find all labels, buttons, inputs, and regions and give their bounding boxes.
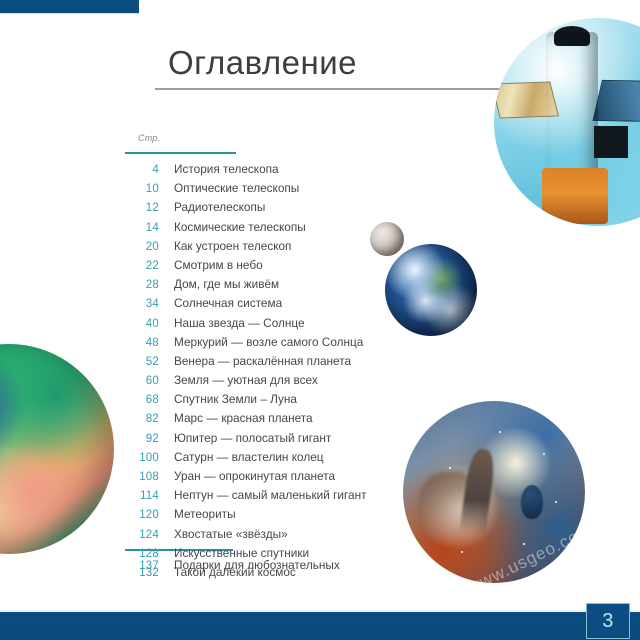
toc-entry-page: 52 (125, 356, 159, 368)
toc-entry-page: 4 (125, 164, 159, 176)
toc-entry-title: Венера — раскалённая планета (174, 354, 351, 368)
toc-entry-page: 120 (125, 509, 159, 521)
toc-entry-title: Нептун — самый маленький гигант (174, 488, 367, 502)
earth-image (385, 244, 477, 336)
toc-entry[interactable]: 40Наша звезда — Солнце (125, 316, 415, 335)
toc-entry-title: Как устроен телескоп (174, 239, 291, 253)
toc-entry-title: Оптические телескопы (174, 181, 299, 195)
toc-entry-title: Земля — уютная для всех (174, 373, 318, 387)
star-dot (449, 467, 451, 469)
toc-entry-title: Смотрим в небо (174, 258, 263, 272)
toc-entry-title: Сатурн — властелин колец (174, 450, 324, 464)
toc-entry-page: 108 (125, 471, 159, 483)
toc-entry-title: История телескопа (174, 162, 279, 176)
star-dot (461, 551, 463, 553)
toc-entry-page: 28 (125, 279, 159, 291)
nebula-image: www.usgeo.com (403, 401, 585, 583)
toc-entry[interactable]: 114Нептун — самый маленький гигант (125, 488, 415, 507)
moon-image (370, 222, 404, 256)
toc-entry[interactable]: 82Марс — красная планета (125, 411, 415, 430)
toc-entry[interactable]: 10Оптические телескопы (125, 181, 415, 200)
toc-entry-page: 68 (125, 394, 159, 406)
nebula-pillar (459, 448, 497, 537)
telescope-base (542, 168, 608, 224)
toc-appendix-list: 137Подарки для любознательных (125, 558, 445, 577)
toc-entry-title: Юпитер — полосатый гигант (174, 431, 331, 445)
star-dot (555, 501, 557, 503)
toc-entry-title: Подарки для любознательных (174, 558, 340, 572)
star-dot (543, 453, 545, 455)
star-dot (499, 431, 501, 433)
top-left-accent-bar (0, 0, 139, 14)
toc-top-divider (125, 152, 236, 154)
toc-entry-title: Солнечная система (174, 296, 282, 310)
page-number-badge: 3 (586, 603, 630, 639)
toc-entry-title: Метеориты (174, 507, 236, 521)
toc-entry[interactable]: 68Спутник Земли – Луна (125, 392, 415, 411)
toc-entry[interactable]: 12Радиотелескопы (125, 200, 415, 219)
toc-entry[interactable]: 48Меркурий — возле самого Солнца (125, 335, 415, 354)
nebula-dark-globule (521, 485, 543, 519)
toc-entry[interactable]: 22Смотрим в небо (125, 258, 415, 277)
toc-list: 4История телескопа10Оптические телескопы… (125, 162, 415, 584)
venus-image (0, 344, 114, 554)
toc-entry-title: Марс — красная планета (174, 411, 313, 425)
toc-entry-page: 92 (125, 433, 159, 445)
toc-entry[interactable]: 100Сатурн — властелин колец (125, 450, 415, 469)
toc-entry[interactable]: 4История телескопа (125, 162, 415, 181)
toc-entry-page: 82 (125, 413, 159, 425)
toc-entry-page: 114 (125, 490, 159, 502)
toc-entry-title: Радиотелескопы (174, 200, 265, 214)
page-title: Оглавление (168, 44, 357, 82)
toc-entry[interactable]: 120Метеориты (125, 507, 415, 526)
toc-entry-page: 12 (125, 202, 159, 214)
toc-entry-title: Спутник Земли – Луна (174, 392, 297, 406)
toc-page: 3 Оглавление Стр. 4История телескопа10Оп… (0, 0, 640, 640)
toc-entry[interactable]: 108Уран — опрокинутая планета (125, 469, 415, 488)
toc-entry-page: 124 (125, 529, 159, 541)
toc-entry-page: 10 (125, 183, 159, 195)
toc-entry-title: Космические телескопы (174, 220, 306, 234)
toc-entry-title: Дом, где мы живём (174, 277, 279, 291)
toc-entry-page: 137 (125, 560, 159, 572)
telescope-image (494, 18, 640, 226)
page-column-label: Стр. (138, 133, 160, 143)
star-dot (523, 543, 525, 545)
toc-entry[interactable]: 52Венера — раскалённая планета (125, 354, 415, 373)
toc-entry-page: 22 (125, 260, 159, 272)
toc-entry[interactable]: 60Земля — уютная для всех (125, 373, 415, 392)
toc-entry-title: Хвостатые «звёзды» (174, 527, 288, 541)
toc-entry-page: 48 (125, 337, 159, 349)
toc-entry-title: Уран — опрокинутая планета (174, 469, 335, 483)
toc-entry-title: Меркурий — возле самого Солнца (174, 335, 363, 349)
toc-entry-page: 34 (125, 298, 159, 310)
toc-entry[interactable]: 92Юпитер — полосатый гигант (125, 431, 415, 450)
toc-entry[interactable]: 124Хвостатые «звёзды» (125, 527, 415, 546)
toc-entry-page: 40 (125, 318, 159, 330)
bottom-accent-bar (0, 610, 640, 640)
toc-entry-title: Наша звезда — Солнце (174, 316, 305, 330)
toc-entry-page: 60 (125, 375, 159, 387)
toc-entry-page: 20 (125, 241, 159, 253)
telescope-solar-panel-right (593, 80, 640, 122)
toc-entry-page: 14 (125, 222, 159, 234)
toc-entry[interactable]: 34Солнечная система (125, 296, 415, 315)
toc-entry[interactable]: 28Дом, где мы живём (125, 277, 415, 296)
title-underline-rule (155, 88, 527, 90)
toc-entry-page: 100 (125, 452, 159, 464)
telescope-instrument-box (594, 126, 628, 158)
toc-entry-appendix[interactable]: 137Подарки для любознательных (125, 558, 445, 577)
